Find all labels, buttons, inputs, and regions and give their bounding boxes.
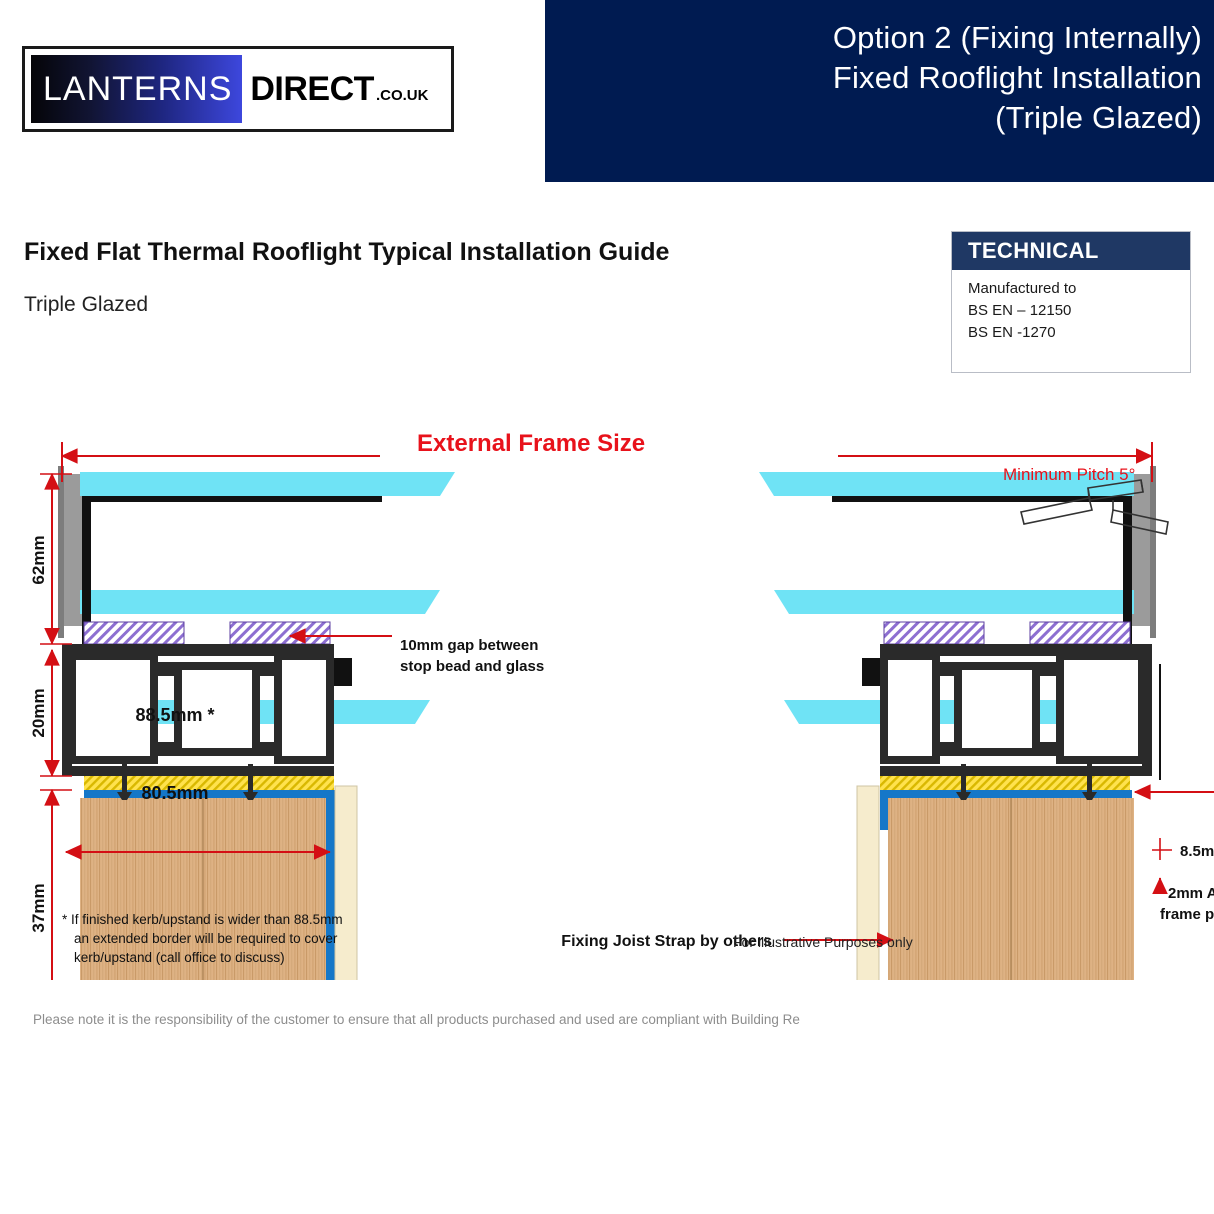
technical-line-1: Manufactured to bbox=[968, 278, 1190, 300]
dim-8-5mm: 8.5mm bbox=[1180, 843, 1214, 860]
disclaimer-text: Please note it is the responsibility of … bbox=[33, 1012, 1193, 1027]
brand-logo: LANTERNS DIRECT .CO.UK bbox=[22, 46, 454, 132]
logo-direct-text: DIRECT bbox=[250, 70, 374, 109]
dim-80-5mm: 80.5mm bbox=[141, 783, 208, 803]
logo-direct-word: DIRECT .CO.UK bbox=[242, 70, 428, 109]
header-title: Option 2 (Fixing Internally) Fixed Roofl… bbox=[562, 18, 1202, 138]
callout-10mm-gap: 10mm gap between stop bead and glass bbox=[400, 637, 544, 675]
kerb-footnote-line-1: * If finished kerb/upstand is wider than… bbox=[62, 910, 343, 929]
technical-line-2: BS EN – 12150 bbox=[968, 300, 1190, 322]
dim-62mm: 62mm bbox=[29, 535, 48, 584]
kerb-footnote-line-3: kerb/upstand (call office to discuss) bbox=[62, 948, 343, 967]
page-root: Option 2 (Fixing Internally) Fixed Roofl… bbox=[0, 0, 1214, 1214]
page-title: Fixed Flat Thermal Rooflight Typical Ins… bbox=[24, 238, 669, 267]
dim-20mm: 20mm bbox=[29, 688, 48, 737]
dim-37mm: 37mm bbox=[29, 883, 48, 932]
installation-diagram: External Frame Size External Kerb Size M… bbox=[0, 400, 1214, 980]
header-title-line-2: Fixed Rooflight Installation bbox=[562, 58, 1202, 98]
logo-inner: LANTERNS DIRECT .CO.UK bbox=[25, 49, 451, 129]
logo-lanterns-word: LANTERNS bbox=[31, 55, 242, 123]
right-section-drawing bbox=[759, 466, 1172, 980]
illustrative-note: For illustrative Purposes only bbox=[733, 934, 913, 950]
callout-2mm-aluminium: 2mm Aluminium frame profile bbox=[1160, 885, 1214, 923]
header-title-line-1: Option 2 (Fixing Internally) bbox=[562, 18, 1202, 58]
kerb-footnote-line-2: an extended border will be required to c… bbox=[62, 929, 343, 948]
kerb-footnote: * If finished kerb/upstand is wider than… bbox=[62, 910, 343, 967]
technical-line-3: BS EN -1270 bbox=[968, 322, 1190, 344]
aluminium-profile-right bbox=[880, 644, 1152, 776]
logo-tld-text: .CO.UK bbox=[376, 87, 429, 104]
label-external-frame-size: External Frame Size bbox=[417, 430, 645, 457]
technical-box: TECHNICAL Manufactured to BS EN – 12150 … bbox=[951, 231, 1191, 373]
label-minimum-pitch: Minimum Pitch 5° bbox=[1003, 465, 1135, 484]
technical-heading: TECHNICAL bbox=[952, 232, 1190, 270]
dim-88-5mm: 88.5mm * bbox=[135, 705, 214, 725]
left-section-drawing bbox=[42, 466, 455, 980]
header-banner: Option 2 (Fixing Internally) Fixed Roofl… bbox=[545, 0, 1214, 182]
page-subtitle: Triple Glazed bbox=[24, 293, 148, 317]
header-title-line-3: (Triple Glazed) bbox=[562, 98, 1202, 138]
technical-body: Manufactured to BS EN – 12150 BS EN -127… bbox=[952, 270, 1190, 344]
